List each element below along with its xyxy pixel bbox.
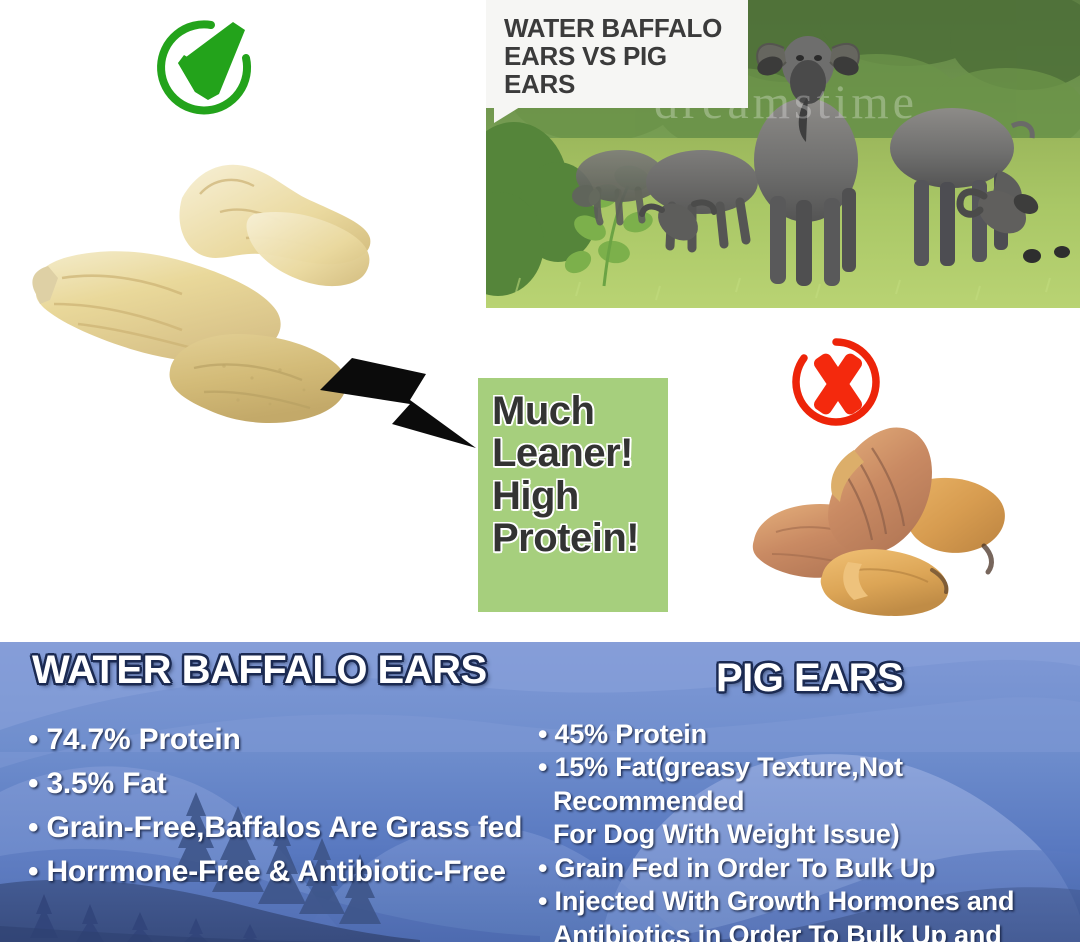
much-leaner-callout: Much Leaner! High Protein! [478,378,668,612]
pig-ears-product-image [736,420,1008,620]
buffalo-field-photo: dreamstime WATER BAFFALO EARS VS PIG EAR… [486,0,1080,308]
green-check-icon [148,14,270,126]
list-item: • 3.5% Fat [28,762,558,806]
infographic-root: dreamstime WATER BAFFALO EARS VS PIG EAR… [0,0,1080,942]
pig-ears-bullet-list: • 45% Protein • 15% Fat(greasy Texture,N… [538,718,1080,942]
list-item: • 15% Fat(greasy Texture,Not Recommended… [538,751,1080,851]
caption-tail [494,97,536,123]
pig-ears-title: PIG EARS [716,656,903,701]
list-item: • Grain Fed in Order To Bulk Up [538,852,1080,885]
list-item: • Horrmone-Free & Antibiotic-Free [28,850,558,894]
red-x-icon [784,334,888,434]
list-item: • 74.7% Protein [28,718,558,762]
list-item: • Grain-Free,Baffalos Are Grass fed [28,806,558,850]
buffalo-ears-bullet-list: • 74.7% Protein • 3.5% Fat • Grain-Free,… [28,718,558,894]
callout-text: Much Leaner! High Protein! [492,390,668,560]
list-item: • Injected With Growth Hormones and Anti… [538,885,1080,942]
photo-caption: WATER BAFFALO EARS VS PIG EARS [486,0,748,108]
comparison-panel: WATER BAFFALO EARS • 74.7% Protein • 3.5… [0,642,1080,942]
buffalo-ears-title: WATER BAFFALO EARS [32,648,487,693]
top-comparison-area: dreamstime WATER BAFFALO EARS VS PIG EAR… [0,0,1080,642]
lightning-bolt-arrow-icon [314,352,482,462]
list-item: • 45% Protein [538,718,1080,751]
